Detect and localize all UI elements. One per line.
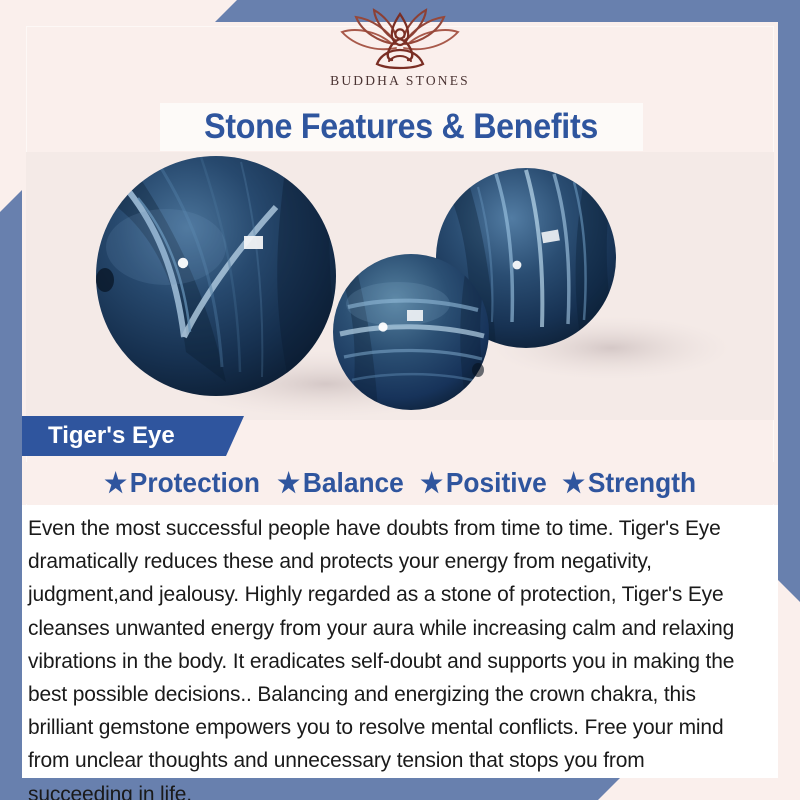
brand-header: BUDDHA STONES — [0, 8, 800, 100]
feature-label: Positive — [446, 467, 547, 499]
star-icon: ★ — [420, 470, 443, 497]
stone-name-label: Tiger's Eye — [22, 422, 175, 450]
stone-name-banner: Tiger's Eye — [22, 416, 244, 456]
star-icon: ★ — [277, 470, 300, 497]
feature-keyword-row: ★ Protection ★ Balance ★ Positive ★ Stre… — [26, 462, 774, 504]
frame-bar-left — [0, 190, 22, 800]
feature-item-positive: ★ Positive — [420, 467, 554, 499]
star-icon: ★ — [563, 470, 586, 497]
feature-label: Strength — [588, 467, 696, 499]
feature-item-protection: ★ Protection — [105, 467, 268, 499]
feature-item-balance: ★ Balance — [277, 467, 411, 499]
feature-item-strength: ★ Strength — [563, 467, 697, 499]
feature-label: Protection — [130, 467, 260, 499]
page-title: Stone Features & Benefits — [205, 107, 599, 147]
stone-benefits-card: BUDDHA STONES Stone Features & Benefits — [0, 0, 800, 800]
description-text: Even the most successful people have dou… — [28, 512, 753, 800]
brand-wordmark: BUDDHA STONES — [330, 73, 470, 89]
frame-bar-right — [778, 22, 800, 602]
lotus-meditation-figure-icon — [333, 8, 467, 72]
blue-tigers-eye-spheres-photo — [26, 152, 774, 420]
description-panel: Even the most successful people have dou… — [22, 505, 778, 778]
title-band: Stone Features & Benefits — [160, 103, 643, 151]
star-icon: ★ — [105, 470, 128, 497]
feature-label: Balance — [303, 467, 404, 499]
